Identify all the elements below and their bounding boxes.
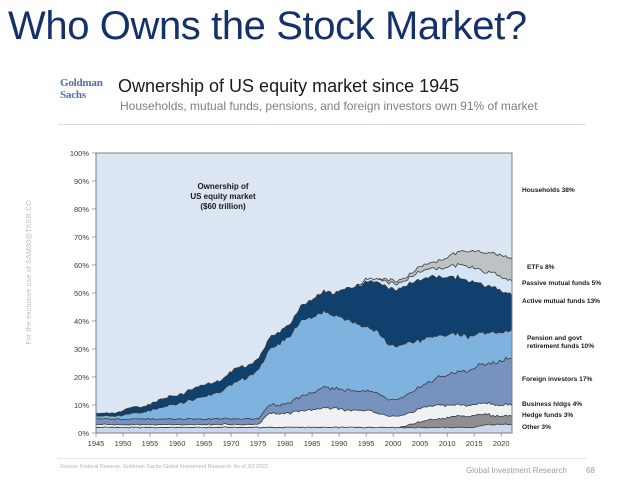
series-label-etfs: ETFs 8%: [527, 264, 555, 271]
series-label-other: Other 3%: [522, 424, 551, 431]
x-tick-label: 1990: [331, 439, 348, 448]
x-tick-label: 1995: [358, 439, 375, 448]
footer-page-number: 68: [586, 466, 595, 475]
y-tick-label: 30%: [74, 345, 89, 354]
series-label-foreign-investors: Foreign investors 17%: [522, 376, 592, 383]
x-tick-label: 1945: [88, 439, 105, 448]
series-label-business-hldgs: Business hldgs 4%: [522, 401, 582, 408]
x-tick-label: 1955: [142, 439, 159, 448]
x-axis: 1945195019551960196519701975198019851990…: [88, 433, 510, 448]
y-tick-label: 100%: [70, 149, 90, 158]
x-tick-label: 2010: [439, 439, 456, 448]
y-tick-label: 60%: [74, 261, 89, 270]
y-tick-label: 90%: [74, 177, 89, 186]
stacked-area-chart: 0%10%20%30%40%50%60%70%80%90%100% 194519…: [0, 0, 640, 487]
series-label-passive-mutual-funds: Passive mutual funds 5%: [522, 280, 601, 287]
y-tick-label: 70%: [74, 233, 89, 242]
x-tick-label: 2020: [493, 439, 510, 448]
x-tick-label: 2015: [466, 439, 483, 448]
x-tick-label: 1975: [250, 439, 267, 448]
slide-root: Who Owns the Stock Market? Goldman Sachs…: [0, 0, 640, 487]
footer-divider: [58, 458, 586, 459]
series-label-households: Households 38%: [522, 187, 575, 194]
annotation-line-1: Ownership of: [197, 182, 248, 191]
y-tick-label: 40%: [74, 317, 89, 326]
source-note: Source: Federal Reserve, Goldman Sachs G…: [60, 464, 269, 470]
x-tick-label: 1980: [277, 439, 294, 448]
x-tick-label: 1950: [115, 439, 132, 448]
series-label-pension-and-govt-retirement-funds-2: retirement funds 10%: [527, 343, 594, 350]
x-tick-label: 1965: [196, 439, 213, 448]
y-tick-label: 10%: [74, 401, 89, 410]
y-tick-label: 20%: [74, 373, 89, 382]
area-series-group: [96, 153, 512, 433]
y-axis: 0%10%20%30%40%50%60%70%80%90%100%: [70, 149, 96, 438]
series-label-hedge-funds: Hedge funds 3%: [522, 412, 573, 419]
x-tick-label: 2000: [385, 439, 402, 448]
series-labels-group: Households 38%ETFs 8%Passive mutual fund…: [522, 187, 601, 431]
y-tick-label: 80%: [74, 205, 89, 214]
series-label-active-mutual-funds: Active mutual funds 13%: [522, 298, 600, 305]
footer-department: Global Investment Research: [466, 466, 567, 475]
x-tick-label: 2005: [412, 439, 429, 448]
x-tick-label: 1960: [169, 439, 186, 448]
x-tick-label: 1985: [304, 439, 321, 448]
annotation-line-3: ($60 trillion): [200, 202, 246, 211]
y-tick-label: 50%: [74, 289, 89, 298]
annotation-line-2: US equity market: [190, 192, 256, 201]
series-label-pension-and-govt-retirement-funds: Pension and govt: [527, 335, 583, 342]
x-tick-label: 1970: [223, 439, 240, 448]
y-tick-label: 0%: [78, 429, 89, 438]
